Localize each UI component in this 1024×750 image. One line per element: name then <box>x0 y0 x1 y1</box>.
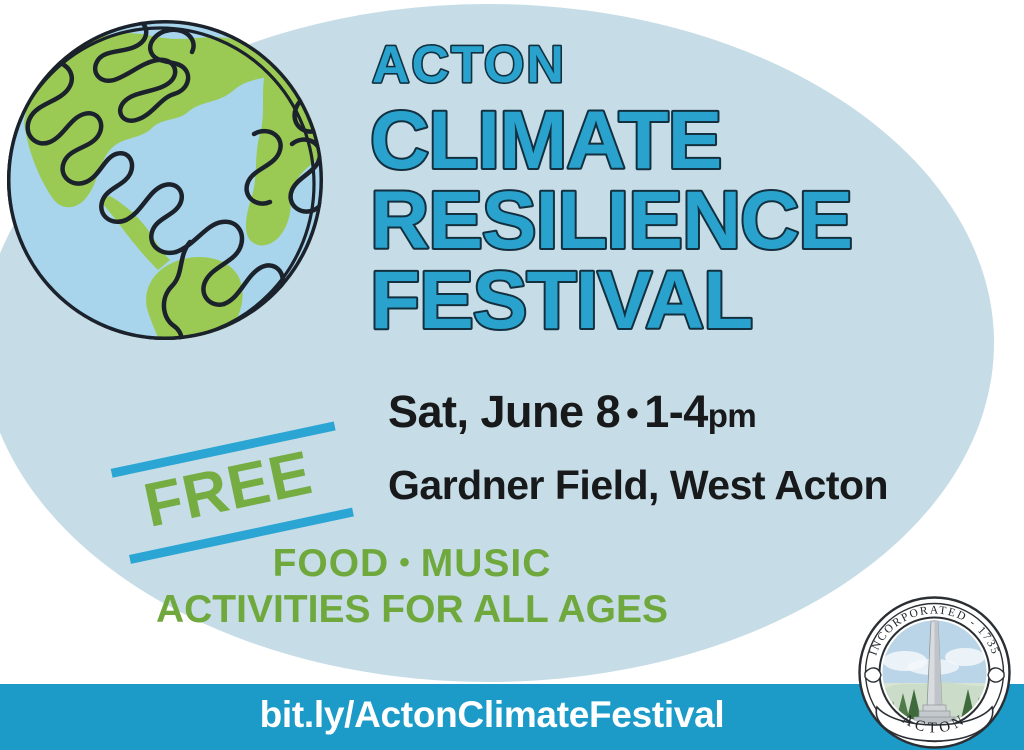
headline-line-resilience: RESILIENCE <box>370 175 852 266</box>
poster-headline: ACTON CLIMATE RESILIENCE FESTIVAL <box>368 26 968 356</box>
town-seal-icon: INCORPORATED - 1735 ACTON <box>857 595 1012 750</box>
highlight-music: MUSIC <box>421 542 552 585</box>
headline-line-climate: CLIMATE <box>370 95 721 186</box>
highlight-separator-bullet: • <box>389 546 421 579</box>
highlight-food: FOOD <box>273 542 390 585</box>
event-time: 1-4 <box>644 386 708 437</box>
event-time-ampm: pm <box>708 397 757 434</box>
event-date-time: Sat, June 8•1-4pm <box>388 386 948 438</box>
event-location: Gardner Field, West Acton <box>388 462 948 509</box>
highlights-line-1: FOOD•MUSIC <box>0 542 1024 586</box>
date-separator-bullet: • <box>620 392 644 433</box>
poster-canvas: ACTON CLIMATE RESILIENCE FESTIVAL Sat, J… <box>0 0 1024 750</box>
headline-line-acton: ACTON <box>372 36 566 94</box>
globe-icon <box>2 14 332 344</box>
event-day: Sat, June 8 <box>388 386 620 437</box>
headline-line-festival: FESTIVAL <box>370 255 752 346</box>
